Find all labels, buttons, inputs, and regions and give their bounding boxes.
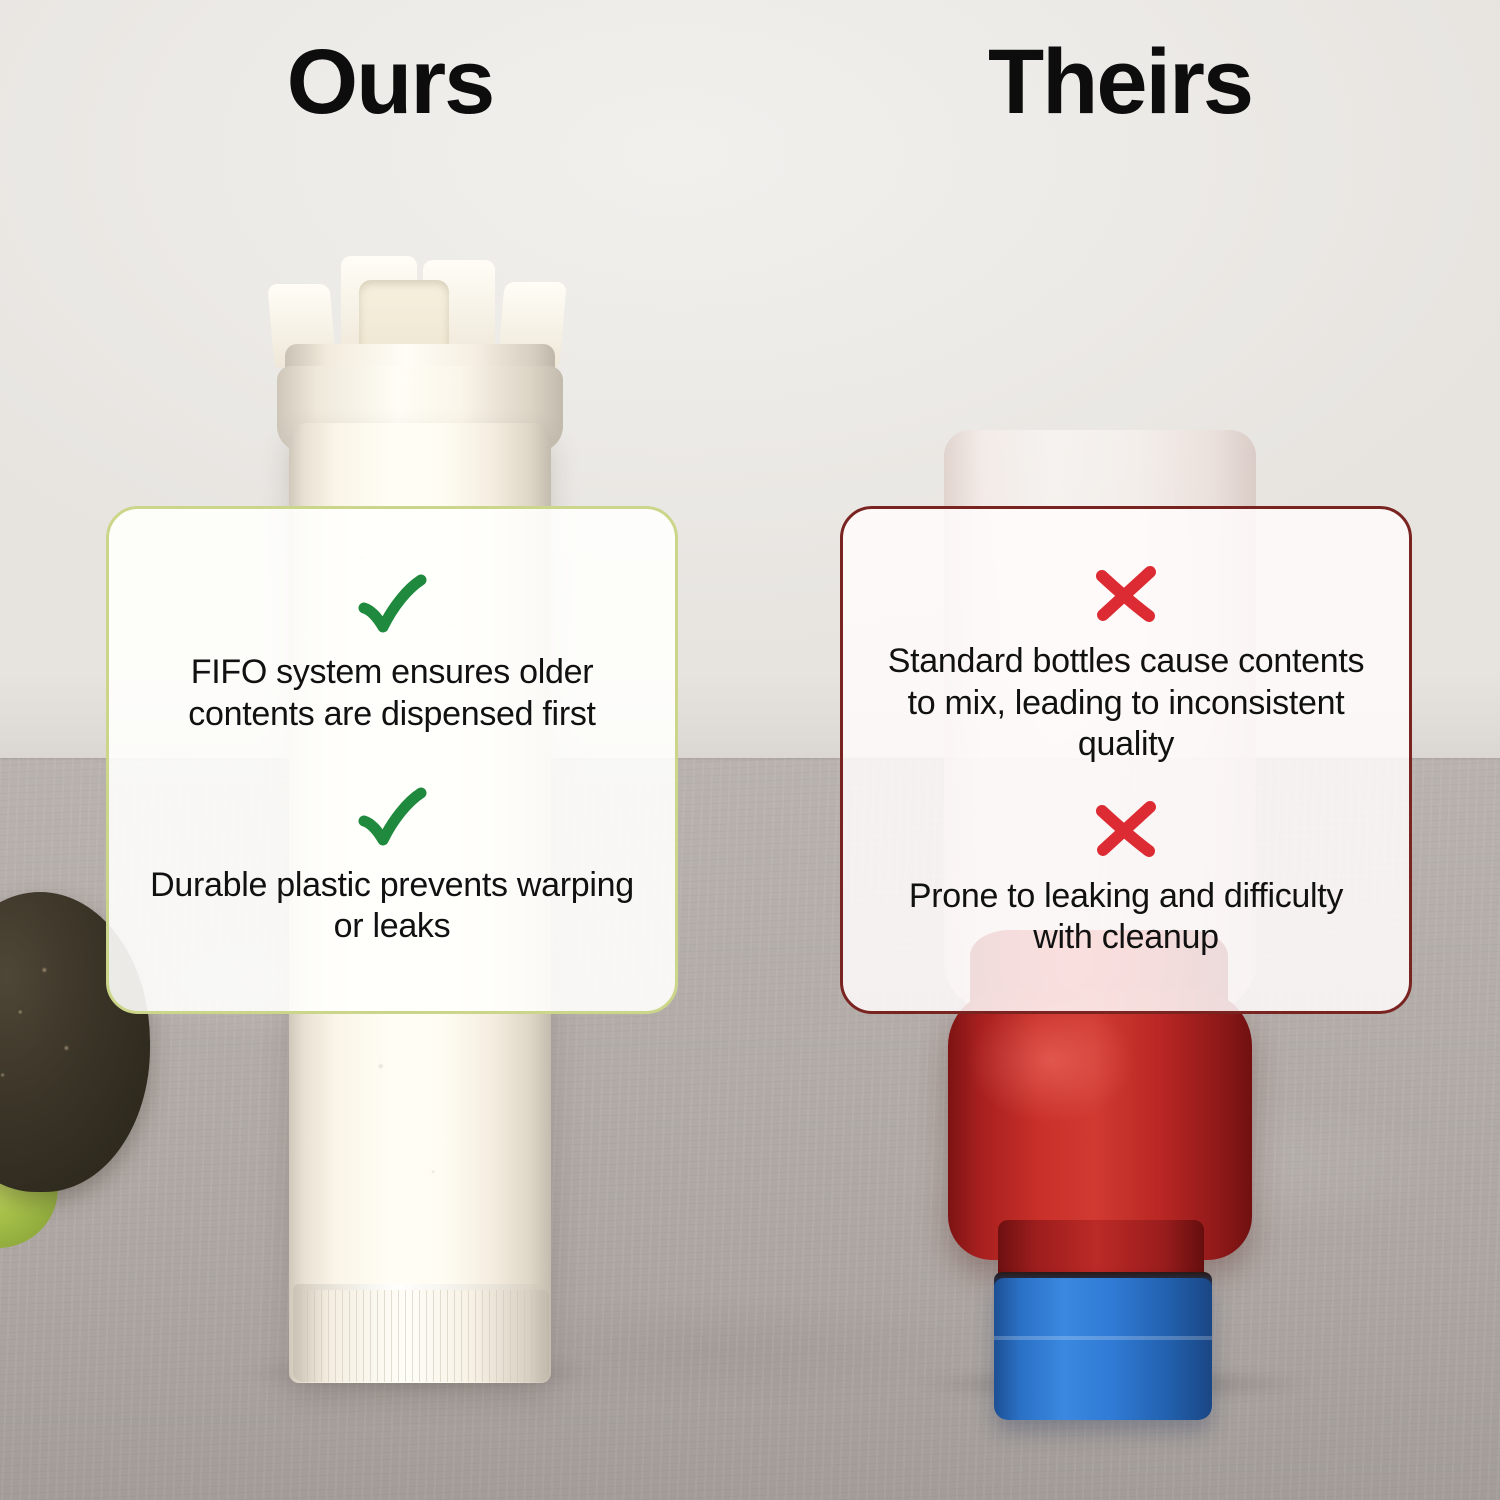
product-comparison-image: Ours Theirs FIFO system ensures older co… [0,0,1500,1500]
feature-item: Prone to leaking and difficulty with cle… [843,796,1409,959]
page-title-theirs: Theirs [860,36,1380,128]
feature-item: FIFO system ensures older contents are d… [109,572,675,735]
comparison-card-theirs: Standard bottles cause contents to mix, … [840,506,1412,1014]
check-icon [355,785,429,851]
cross-icon [1089,796,1163,862]
feature-item: Standard bottles cause contents to mix, … [843,561,1409,765]
feature-item: Durable plastic prevents warping or leak… [109,785,675,948]
check-icon [355,572,429,638]
ketchup-cap-seam [994,1336,1212,1340]
ketchup-blue-cap [994,1278,1212,1420]
feature-text: Standard bottles cause contents to mix, … [877,641,1375,765]
feature-text: FIFO system ensures older contents are d… [143,652,641,735]
feature-text: Durable plastic prevents warping or leak… [143,865,641,948]
cross-icon [1089,561,1163,627]
comparison-card-ours: FIFO system ensures older contents are d… [106,506,678,1014]
feature-text: Prone to leaking and difficulty with cle… [877,876,1375,959]
page-title-ours: Ours [130,36,650,128]
bottle-ribbed-base [293,1290,549,1382]
